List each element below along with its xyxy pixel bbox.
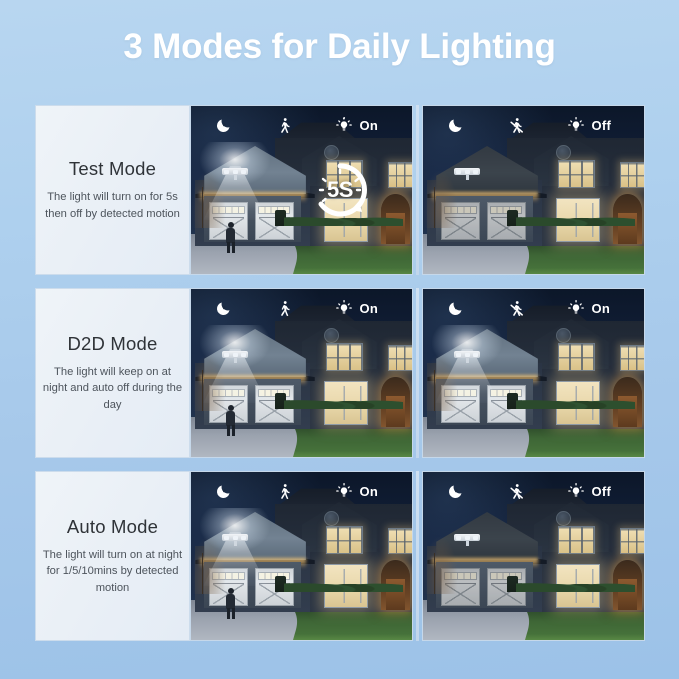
mode-description: The light will keep on at night and auto…	[42, 364, 183, 413]
status-icon-bar: Off	[423, 479, 644, 503]
no-motion-icon	[508, 300, 525, 317]
light-state-label: On	[591, 301, 610, 316]
modes-list: Test Mode The light will turn on for 5s …	[35, 105, 645, 654]
walking-person	[226, 588, 235, 618]
flood-light-fixture	[454, 168, 480, 178]
moon-icon	[447, 117, 464, 134]
flood-light-fixture	[454, 534, 480, 544]
moon-icon	[215, 483, 232, 500]
status-icon-bar: On	[191, 479, 412, 503]
mode-name: Test Mode	[69, 158, 156, 180]
mode-description: The light will turn on for 5s then off b…	[42, 189, 183, 221]
moon-icon	[447, 300, 464, 317]
no-motion-icon	[508, 483, 525, 500]
photo-light-on-motion: On	[190, 471, 413, 641]
bulb-icon	[335, 482, 353, 500]
mode-text-panel: Test Mode The light will turn on for 5s …	[35, 105, 190, 275]
light-state-label: Off	[591, 118, 611, 133]
gable-vent	[324, 145, 339, 160]
status-icon-bar: Off	[423, 113, 644, 137]
bulb-icon	[335, 116, 353, 134]
no-motion-icon	[508, 117, 525, 134]
walking-person	[226, 222, 235, 252]
walking-person-icon	[276, 483, 293, 500]
photo-light-on-motion: On	[190, 105, 413, 275]
upper-window	[326, 160, 364, 188]
moon-icon	[215, 117, 232, 134]
mode-name: Auto Mode	[67, 516, 158, 538]
photo-light-off-no-motion: Off	[422, 105, 645, 275]
mode-photo-pair: On	[190, 105, 645, 275]
flood-light-fixture	[222, 168, 248, 178]
mode-description: The light will turn on at night for 1/5/…	[42, 547, 183, 596]
status-icon-bar: On	[191, 296, 412, 320]
bulb-icon	[335, 299, 353, 317]
mode-photo-pair: On	[190, 471, 645, 641]
flood-light-fixture	[222, 534, 248, 544]
mode-row-auto: Auto Mode The light will turn on at nigh…	[35, 471, 645, 641]
light-state-label: On	[359, 301, 378, 316]
mode-row-d2d: D2D Mode The light will keep on at night…	[35, 288, 645, 458]
photo-divider	[416, 105, 419, 275]
mode-row-test: Test Mode The light will turn on for 5s …	[35, 105, 645, 275]
photo-light-off-no-motion: Off	[422, 471, 645, 641]
mode-photo-pair: On	[190, 288, 645, 458]
flood-light-fixture	[222, 351, 248, 361]
mode-text-panel: Auto Mode The light will turn on at nigh…	[35, 471, 190, 641]
light-state-label: Off	[591, 484, 611, 499]
shrubs	[284, 210, 403, 226]
walking-person-icon	[276, 300, 293, 317]
bulb-icon	[567, 482, 585, 500]
flood-light-fixture	[454, 351, 480, 361]
status-icon-bar: On	[191, 113, 412, 137]
photo-light-on-motion: On	[190, 288, 413, 458]
upper-window	[388, 162, 413, 188]
light-state-label: On	[359, 484, 378, 499]
page-title: 3 Modes for Daily Lighting	[0, 27, 679, 67]
status-icon-bar: On	[423, 296, 644, 320]
moon-icon	[447, 483, 464, 500]
walking-person-icon	[276, 117, 293, 134]
moon-icon	[215, 300, 232, 317]
photo-divider	[416, 288, 419, 458]
photo-divider	[416, 471, 419, 641]
bulb-icon	[567, 116, 585, 134]
light-state-label: On	[359, 118, 378, 133]
photo-light-on-no-motion: On	[422, 288, 645, 458]
walking-person	[226, 405, 235, 435]
mode-name: D2D Mode	[67, 333, 157, 355]
mode-text-panel: D2D Mode The light will keep on at night…	[35, 288, 190, 458]
bulb-icon	[567, 299, 585, 317]
